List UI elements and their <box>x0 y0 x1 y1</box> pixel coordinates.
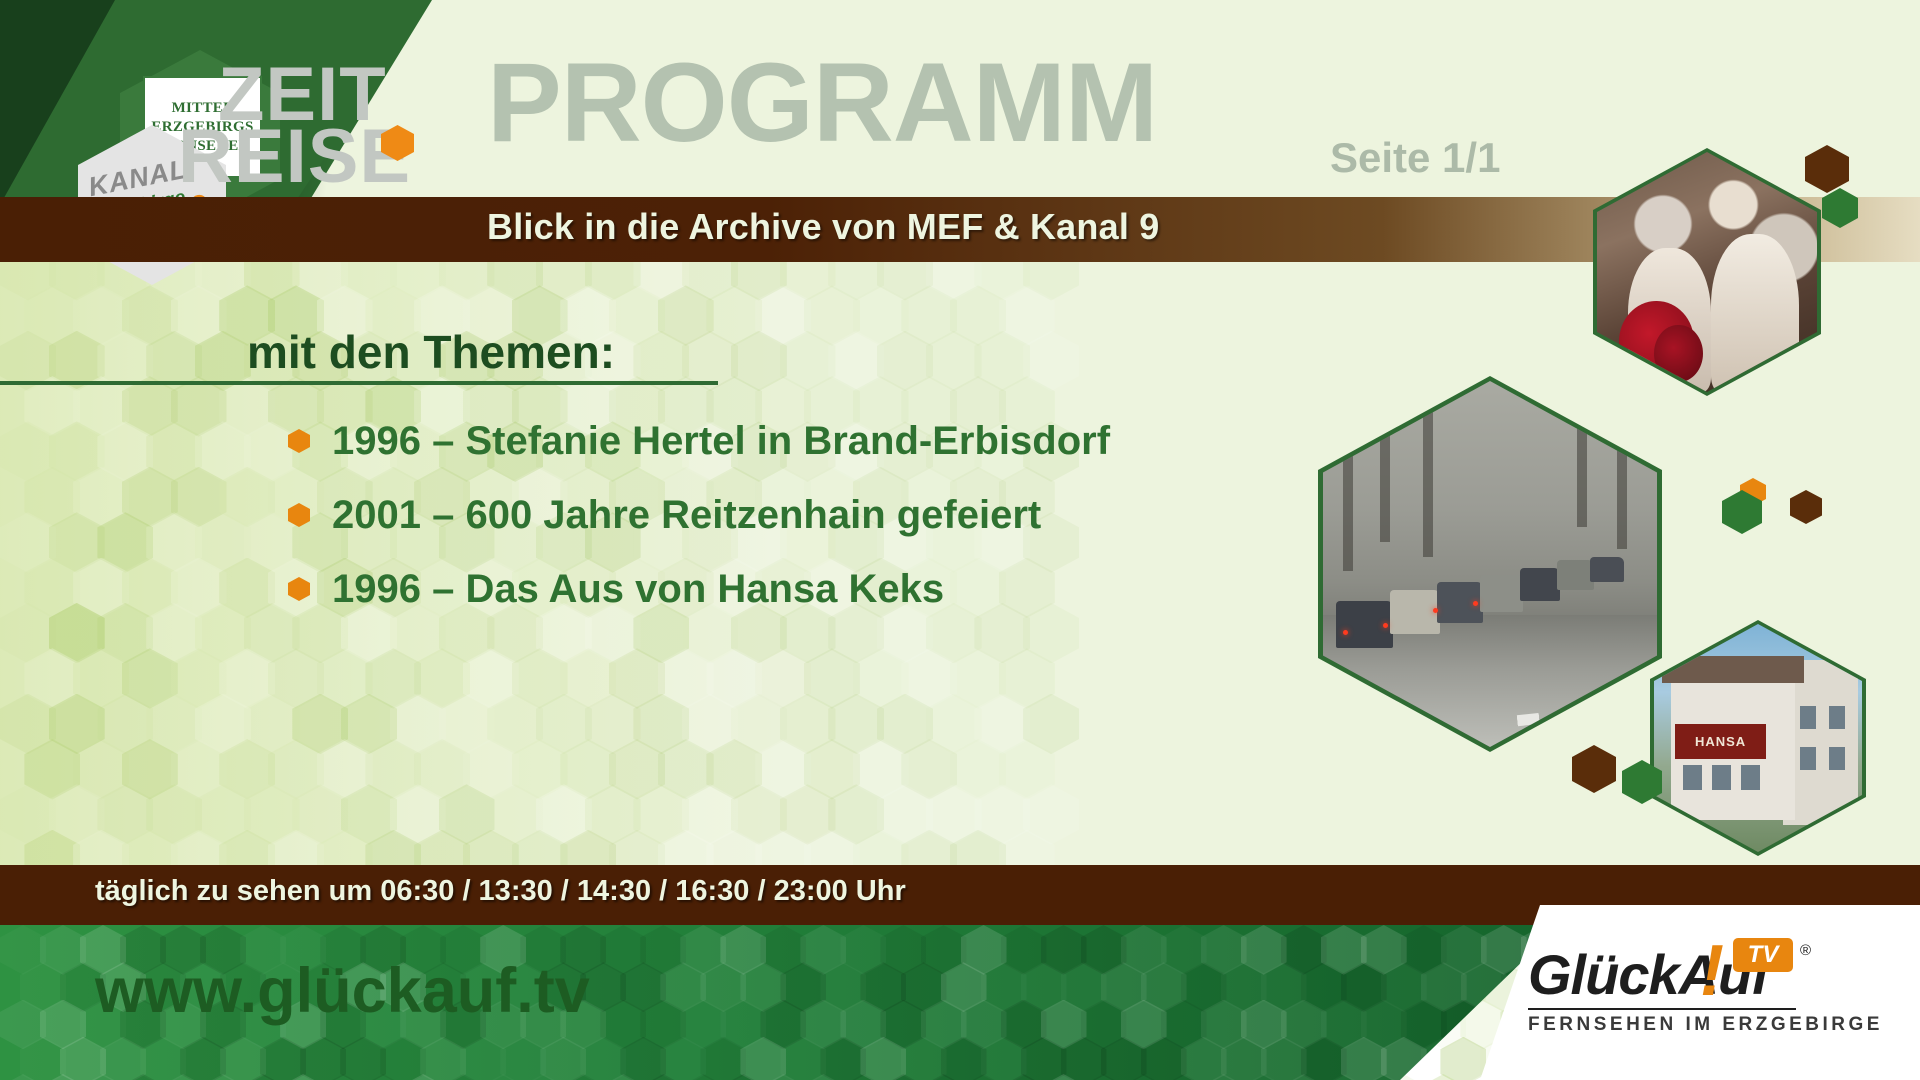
topic-label: 1996 – Stefanie Hertel in Brand-Erbisdor… <box>332 419 1110 464</box>
glueckauf-logo-divider <box>1528 1008 1796 1010</box>
topic-item: 2001 – 600 Jahre Reitzenhain gefeiert <box>288 478 1388 552</box>
hansa-sign-label: HANSA <box>1695 734 1746 749</box>
hansa-sign: HANSA <box>1675 724 1767 758</box>
section-heading: mit den Themen: <box>247 325 615 379</box>
topic-list: 1996 – Stefanie Hertel in Brand-Erbisdor… <box>288 404 1388 626</box>
page-title: PROGRAMM <box>487 47 1157 159</box>
glueckauf-logo-tv-label: TV <box>1748 941 1779 969</box>
glueckauf-logo-tagline: FERNSEHEN IM ERZGEBIRGE <box>1528 1014 1883 1036</box>
topic-item: 1996 – Stefanie Hertel in Brand-Erbisdor… <box>288 404 1388 478</box>
subtitle-text: Blick in die Archive von MEF & Kanal 9 <box>487 206 1487 254</box>
glueckauf-logo-exclamation: ! <box>1700 930 1724 1012</box>
schedule-text: täglich zu sehen um 06:30 / 13:30 / 14:3… <box>95 875 906 908</box>
page-indicator: Seite 1/1 <box>1330 134 1500 182</box>
hexagon-bullet-icon <box>288 577 310 601</box>
topic-item: 1996 – Das Aus von Hansa Keks <box>288 552 1388 626</box>
topic-label: 1996 – Das Aus von Hansa Keks <box>332 567 944 612</box>
program-slide: MITTEL ERZGEBIRGS FERNSEHEN KANAL Erzgeb… <box>0 0 1920 1080</box>
glueckauf-logo-registered: ® <box>1800 942 1811 959</box>
section-heading-underline <box>0 381 718 385</box>
topic-label: 2001 – 600 Jahre Reitzenhain gefeiert <box>332 493 1041 538</box>
glueckauf-logo-tv-badge: TV <box>1733 938 1793 972</box>
wordmark-reise: REISE <box>178 120 411 194</box>
hexagon-bullet-icon <box>288 429 310 453</box>
hexagon-bullet-icon <box>288 503 310 527</box>
footer-url[interactable]: www.glückauf.tv <box>95 955 590 1027</box>
